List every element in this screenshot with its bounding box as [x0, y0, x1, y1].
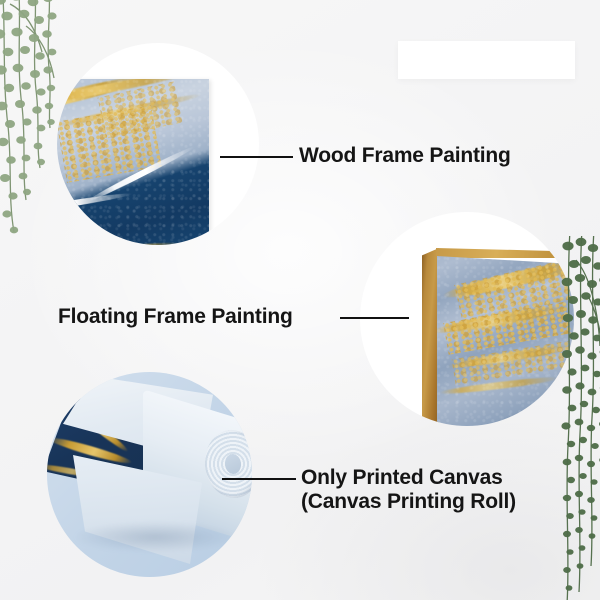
wood-frame-top-edge — [436, 248, 574, 258]
label-wood-frame-painting: Wood Frame Painting — [299, 144, 511, 168]
wood-frame-side-edge — [422, 248, 439, 426]
label-floating-frame-painting: Floating Frame Painting — [58, 305, 293, 329]
blank-white-banner — [398, 41, 575, 79]
abstract-blue-gold-artwork — [437, 256, 574, 426]
connector-line-floating-frame-painting — [340, 317, 409, 319]
label-only-printed-canvas: Only Printed Canvas (Canvas Printing Rol… — [301, 466, 516, 514]
paint-texture-overlay — [437, 256, 574, 426]
paint-texture-overlay — [57, 79, 209, 245]
framed-artwork-face — [437, 256, 574, 426]
rolled-canvas-image — [47, 372, 252, 577]
circle-floating-frame-painting — [360, 212, 574, 426]
roll-drop-shadow — [75, 522, 235, 552]
flat-canvas-painting-image — [57, 79, 209, 245]
connector-line-wood-frame-painting — [220, 156, 293, 158]
product-infographic: Wood Frame Painting Floating Frame Paint… — [0, 0, 600, 600]
abstract-blue-gold-artwork — [57, 79, 209, 245]
floating-framed-canvas-image — [422, 248, 574, 426]
circle-wood-frame-painting — [57, 43, 259, 245]
circle-only-printed-canvas — [47, 372, 252, 577]
connector-line-only-printed-canvas — [222, 478, 296, 480]
canvas-roll-core — [224, 453, 242, 475]
